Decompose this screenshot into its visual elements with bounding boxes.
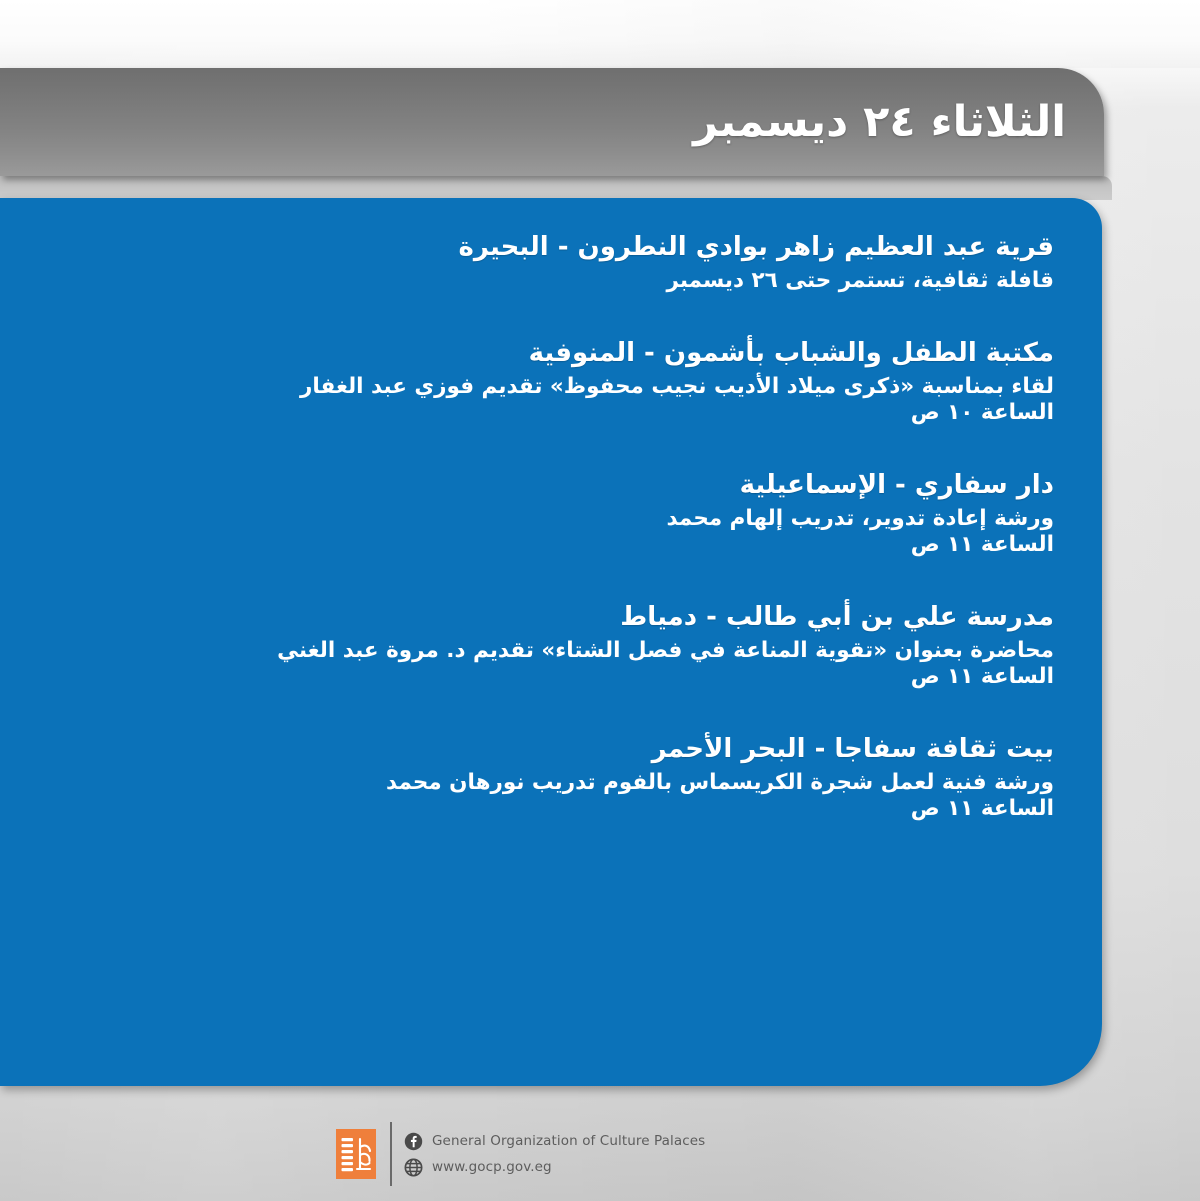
footer-links: General Organization of Culture Palaces …: [404, 1132, 705, 1177]
event-venue: بيت ثقافة سفاجا - البحر الأحمر: [48, 734, 1054, 766]
facebook-icon: [404, 1132, 423, 1151]
event-item: قرية عبد العظيم زاهر بوادي النطرون - الب…: [48, 232, 1054, 294]
events-list: قرية عبد العظيم زاهر بوادي النطرون - الب…: [48, 232, 1054, 823]
event-time: الساعة ١١ ص: [48, 796, 1054, 822]
top-white-strip: [0, 0, 1200, 68]
facebook-label: General Organization of Culture Palaces: [432, 1133, 705, 1149]
event-description: ورشة فنية لعمل شجرة الكريسماس بالفوم تدر…: [48, 770, 1054, 796]
event-description: محاضرة بعنوان «تقوية المناعة في فصل الشت…: [48, 638, 1054, 664]
event-time: الساعة ١١ ص: [48, 532, 1054, 558]
header-shelf: [0, 176, 1112, 200]
footer: General Organization of Culture Palaces …: [336, 1122, 705, 1186]
event-poster: الثلاثاء ٢٤ ديسمبر قرية عبد العظيم زاهر …: [0, 0, 1200, 1201]
facebook-link[interactable]: General Organization of Culture Palaces: [404, 1132, 705, 1151]
event-description: قافلة ثقافية، تستمر حتى ٢٦ ديسمبر: [48, 268, 1054, 294]
event-item: مكتبة الطفل والشباب بأشمون - المنوفية لق…: [48, 338, 1054, 426]
event-time: الساعة ١٠ ص: [48, 400, 1054, 426]
event-venue: مكتبة الطفل والشباب بأشمون - المنوفية: [48, 338, 1054, 370]
globe-icon: [404, 1158, 423, 1177]
website-link[interactable]: www.gocp.gov.eg: [404, 1158, 705, 1177]
events-panel: قرية عبد العظيم زاهر بوادي النطرون - الب…: [0, 198, 1102, 1086]
event-item: دار سفاري - الإسماعيلية ورشة إعادة تدوير…: [48, 470, 1054, 558]
event-venue: قرية عبد العظيم زاهر بوادي النطرون - الب…: [48, 232, 1054, 264]
event-item: بيت ثقافة سفاجا - البحر الأحمر ورشة فنية…: [48, 734, 1054, 822]
event-venue: دار سفاري - الإسماعيلية: [48, 470, 1054, 502]
event-description: لقاء بمناسبة «ذكرى ميلاد الأديب نجيب محف…: [48, 374, 1054, 400]
event-item: مدرسة علي بن أبي طالب - دمياط محاضرة بعن…: [48, 602, 1054, 690]
website-label: www.gocp.gov.eg: [432, 1159, 552, 1175]
event-time: الساعة ١١ ص: [48, 664, 1054, 690]
header-bar: الثلاثاء ٢٤ ديسمبر: [0, 68, 1104, 176]
event-description: ورشة إعادة تدوير، تدريب إلهام محمد: [48, 506, 1054, 532]
header-date-title: الثلاثاء ٢٤ ديسمبر: [693, 97, 1066, 147]
event-venue: مدرسة علي بن أبي طالب - دمياط: [48, 602, 1054, 634]
footer-divider: [390, 1122, 392, 1186]
gocp-logo-icon: [336, 1129, 376, 1179]
